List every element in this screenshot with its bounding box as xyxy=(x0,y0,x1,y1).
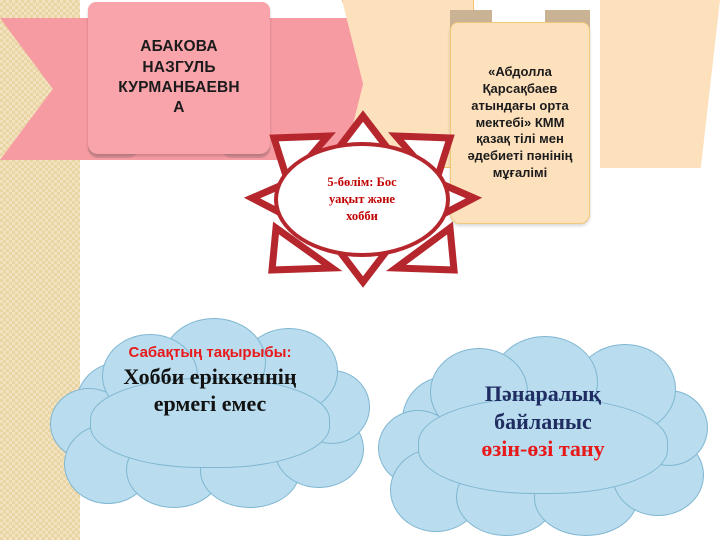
cross-curricular-text-group: Пәнаралық байланыс өзін-өзі тану xyxy=(378,380,708,463)
teacher-name-plaque: АБАКОВА НАЗГУЛЬ КУРМАНБАЕВН А xyxy=(88,2,270,154)
cross-curricular-cloud: Пәнаралық байланыс өзін-өзі тану xyxy=(378,336,708,536)
sun-center-ellipse: 5-бөлім: Бос уақыт және хобби xyxy=(274,142,450,257)
cross-curricular-subject: өзін-өзі тану xyxy=(378,435,708,463)
sun-badge: 5-бөлім: Бос уақыт және хобби xyxy=(246,112,478,287)
section-title-text: 5-бөлім: Бос уақыт және хобби xyxy=(327,174,396,226)
lesson-topic-text-group: Сабақтың тақырыбы: Хобби еріккеннің ерме… xyxy=(50,344,370,417)
school-name-text: «Абдолла Қарсақбаев атындағы орта мектеб… xyxy=(462,64,577,182)
cross-curricular-label: Пәнаралық байланыс xyxy=(378,380,708,435)
lesson-topic-label: Сабақтың тақырыбы: xyxy=(50,344,370,363)
teacher-name-text: АБАКОВА НАЗГУЛЬ КУРМАНБАЕВН А xyxy=(112,37,246,119)
slide-canvas: АБАКОВА НАЗГУЛЬ КУРМАНБАЕВН А «Абдолла Қ… xyxy=(0,0,720,540)
school-ribbon-right-wing xyxy=(600,0,720,168)
lesson-topic-body: Хобби еріккеннің ермегі емес xyxy=(50,363,370,418)
lesson-topic-cloud: Сабақтың тақырыбы: Хобби еріккеннің ерме… xyxy=(50,318,370,508)
